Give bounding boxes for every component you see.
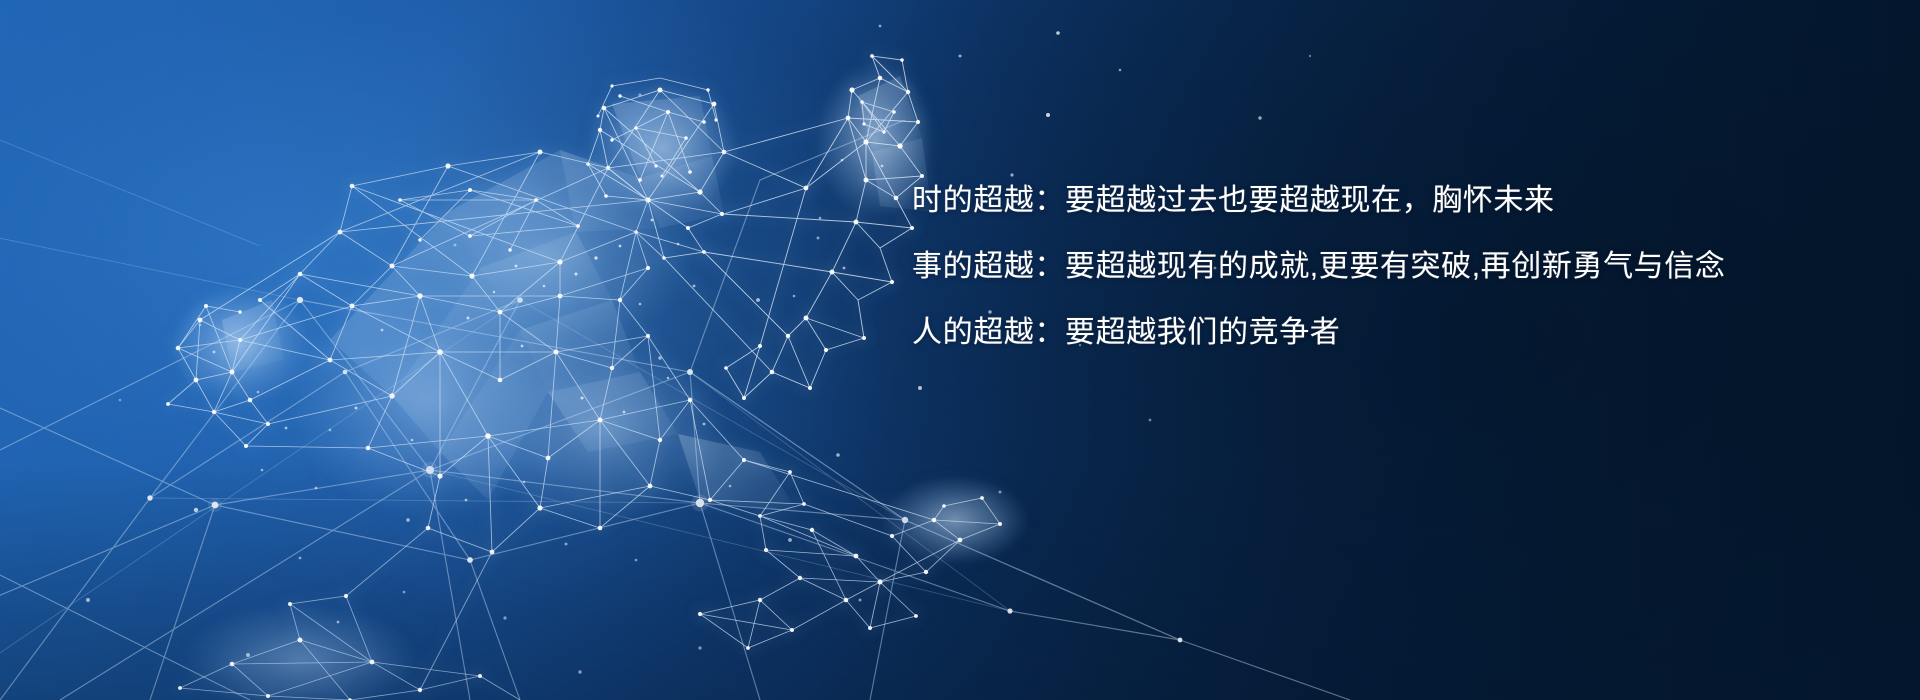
hero-banner: 时的超越：要超越过去也要超越现在，胸怀未来 事的超越：要超越现有的成就,更要有突… <box>0 0 1920 700</box>
hero-copy-line-3: 人的超越：要超越我们的竞争者 <box>912 318 1832 348</box>
hero-copy-block: 时的超越：要超越过去也要超越现在，胸怀未来 事的超越：要超越现有的成就,更要有突… <box>912 186 1832 348</box>
hero-copy-line-2: 事的超越：要超越现有的成就,更要有突破,再创新勇气与信念 <box>912 252 1832 282</box>
runner-wireframe-figure <box>0 0 1920 700</box>
hero-copy-line-1: 时的超越：要超越过去也要超越现在，胸怀未来 <box>912 186 1832 216</box>
